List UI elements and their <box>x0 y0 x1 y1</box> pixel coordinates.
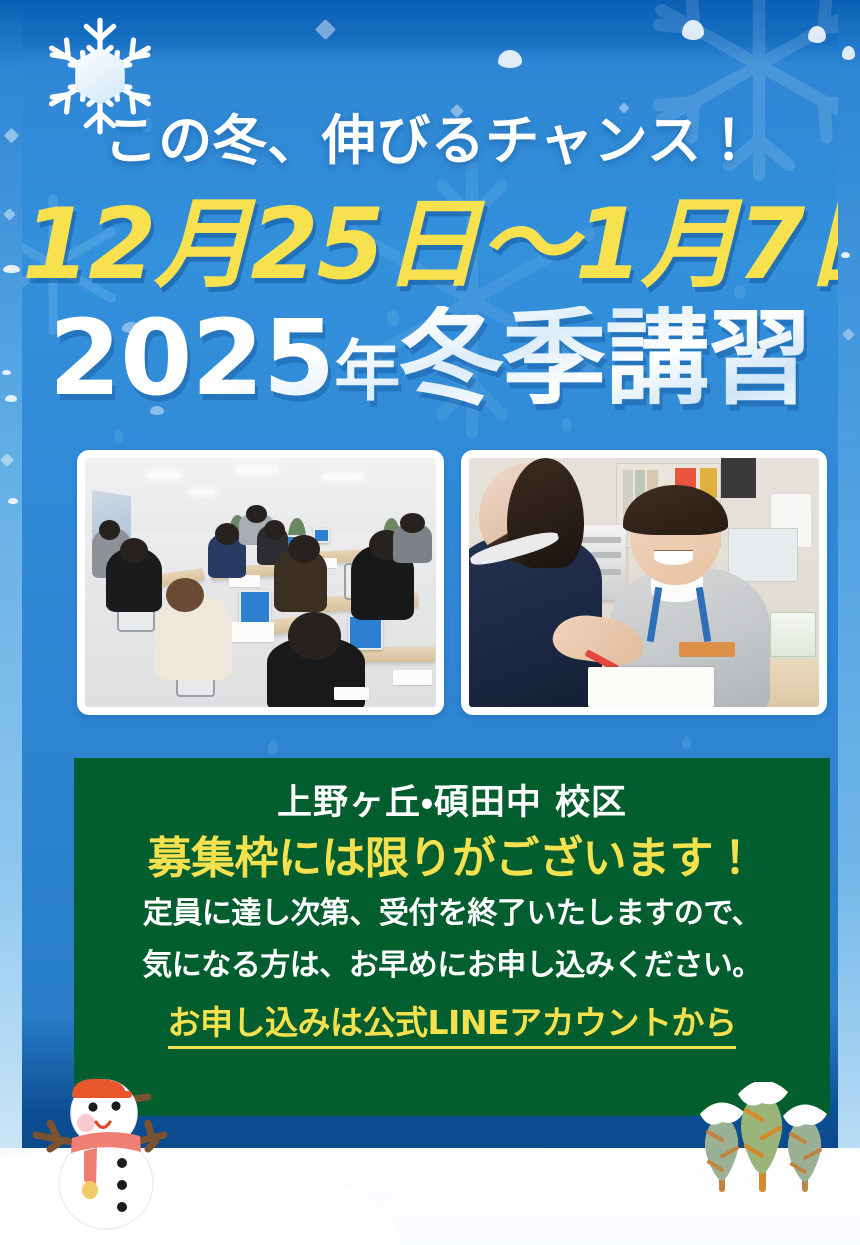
limited-seats-headline: 募集枠には限りがございます！ <box>94 835 810 883</box>
flake-decor <box>268 740 278 754</box>
right-edge-strip <box>838 0 860 1148</box>
title-main-text: 冬季講習 <box>399 297 811 419</box>
line-signup-cta[interactable]: お申し込みは公式LINEアカウントから <box>168 1002 737 1049</box>
flake-decor <box>562 418 572 432</box>
title-year-suffix: 年 <box>334 333 399 410</box>
winter-course-poster: この冬、伸びるチャンス！ 12月25日〜1月7日 2025年冬季講習 <box>0 0 860 1245</box>
snow-trees-icon <box>682 1082 842 1207</box>
photo-classroom-students-studying <box>85 458 436 707</box>
notice-box: 上野ヶ丘・碩田中 校区 募集枠には限りがございます！ 定員に達し次第、受付を終了… <box>74 758 830 1116</box>
flake-decor <box>114 430 123 443</box>
snowman-icon <box>30 1075 180 1230</box>
photo-gallery <box>77 450 827 715</box>
flake-decor <box>808 26 826 43</box>
school-area-label: 上野ヶ丘・碩田中 校区 <box>94 784 810 823</box>
photo-teacher-counseling-student <box>469 458 820 707</box>
flake-decor <box>682 20 704 40</box>
page-headline: この冬、伸びるチャンス！ <box>22 114 838 168</box>
flake-decor <box>315 19 336 40</box>
title-year: 2025 <box>49 297 334 419</box>
date-range: 12月25日〜1月7日 <box>22 196 838 294</box>
flake-decor <box>682 736 691 749</box>
flake-decor <box>498 50 522 68</box>
photo-frame-counseling <box>461 450 828 715</box>
notice-body-line-2: 気になる方は、お早めにお申し込みください。 <box>94 945 810 988</box>
photo-frame-classroom <box>77 450 444 715</box>
notice-body-line-1: 定員に達し次第、受付を終了いたしますので、 <box>94 893 810 936</box>
main-blue-panel: この冬、伸びるチャンス！ 12月25日〜1月7日 2025年冬季講習 <box>22 0 838 1148</box>
page-title: 2025年冬季講習 <box>22 306 838 410</box>
left-edge-strip <box>0 0 22 1148</box>
